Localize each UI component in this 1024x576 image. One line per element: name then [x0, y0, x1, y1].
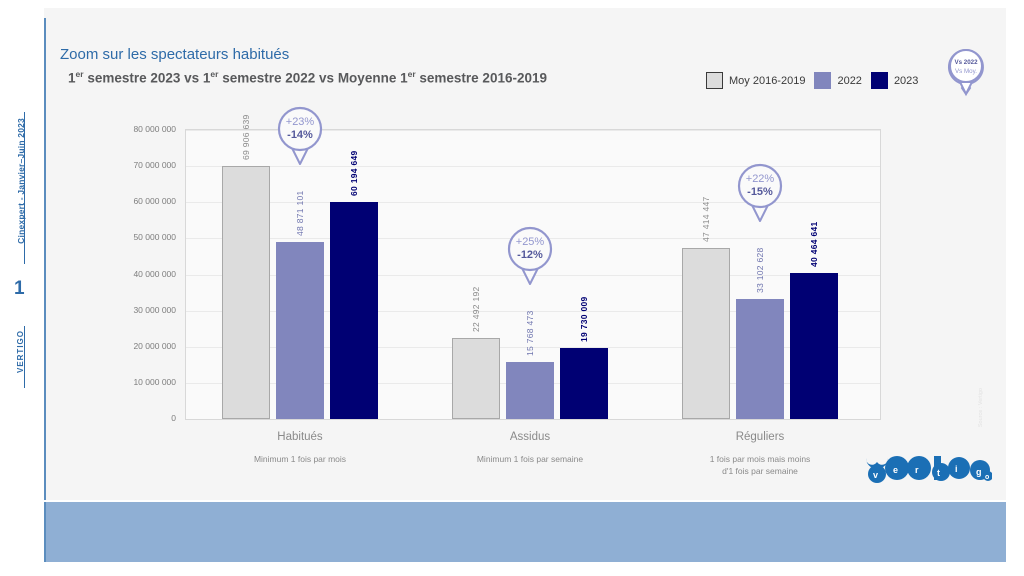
svg-text:e: e: [893, 465, 898, 475]
bar-value-label-2-0: 47 414 447: [701, 182, 711, 242]
page-title: Zoom sur les spectateurs habitués: [60, 46, 289, 63]
svg-text:Vs 2022: Vs 2022: [954, 59, 978, 66]
vs-key-pin: Vs 2022 Vs Moy.: [944, 48, 988, 98]
vertigo-logo-icon: ver tig o: [864, 452, 992, 492]
legend-swatch-0: [706, 72, 723, 89]
bar-value-label-2-1: 33 102 628: [755, 233, 765, 293]
y-axis-tick-6: 60 000 000: [84, 196, 176, 206]
band-accent-line: [44, 502, 46, 562]
bar-value-label-1-1: 15 768 473: [525, 296, 535, 356]
subtitle-b: semestre 2023 vs 1: [84, 71, 211, 86]
badge-text-1: +25%-12%: [502, 236, 558, 262]
bar-2-0[interactable]: [682, 248, 730, 419]
badge-vs2022-0: +23%: [272, 116, 328, 129]
card-accent-line: [44, 18, 46, 500]
badge-vsmoy-1: -12%: [502, 249, 558, 262]
y-axis-tick-4: 40 000 000: [84, 269, 176, 279]
y-axis: 010 000 00020 000 00030 000 00040 000 00…: [84, 129, 176, 420]
legend-label-0: Moy 2016-2019: [729, 75, 805, 87]
y-axis-tick-5: 50 000 000: [84, 232, 176, 242]
bar-value-label-1-0: 22 492 192: [471, 272, 481, 332]
category-name-0: Habitués: [190, 431, 410, 443]
badge-vsmoy-2: -15%: [732, 186, 788, 199]
category-label-1: AssidusMinimum 1 fois par semaine: [420, 431, 640, 465]
bar-value-label-0-2: 60 194 649: [349, 136, 359, 196]
category-description-1: Minimum 1 fois par semaine: [420, 453, 640, 465]
bar-0-0[interactable]: [222, 166, 270, 419]
category-name-1: Assidus: [420, 431, 640, 443]
svg-text:t: t: [937, 468, 940, 478]
y-axis-tick-7: 70 000 000: [84, 160, 176, 170]
badge-text-0: +23%-14%: [272, 116, 328, 142]
bar-1-2[interactable]: [560, 348, 608, 419]
svg-text:Vs Moy.: Vs Moy.: [955, 68, 977, 75]
key-pin-icon: Vs 2022 Vs Moy.: [944, 48, 988, 98]
bar-0-2[interactable]: [330, 202, 378, 419]
comparison-badge-2[interactable]: +22%-15%: [732, 161, 788, 225]
subtitle-c: semestre 2022 vs Moyenne 1: [218, 71, 407, 86]
subtitle-a: 1: [68, 71, 76, 86]
bottom-band: [44, 502, 1006, 562]
slide-root: Cinexpert - Janvier–Juin 2023 1 VERTIGO …: [0, 0, 1024, 576]
svg-text:g: g: [976, 467, 982, 477]
category-description-0: Minimum 1 fois par mois: [190, 453, 410, 465]
vertigo-logo: ver tig o: [864, 452, 992, 492]
legend-label-1: 2022: [837, 75, 861, 87]
legend-item-0[interactable]: Moy 2016-2019: [706, 72, 805, 89]
legend-item-1[interactable]: 2022: [814, 72, 861, 89]
sidebar-page-number: 1: [14, 278, 25, 300]
bar-2-2[interactable]: [790, 273, 838, 419]
badge-vsmoy-0: -14%: [272, 129, 328, 142]
y-axis-tick-2: 20 000 000: [84, 341, 176, 351]
badge-vs2022-2: +22%: [732, 173, 788, 186]
legend-item-2[interactable]: 2023: [871, 72, 918, 89]
svg-text:o: o: [985, 474, 989, 481]
badge-text-2: +22%-15%: [732, 173, 788, 199]
comparison-badge-0[interactable]: +23%-14%: [272, 104, 328, 168]
sidebar: Cinexpert - Janvier–Juin 2023 1 VERTIGO: [0, 0, 38, 576]
legend-swatch-1: [814, 72, 831, 89]
bar-2-1[interactable]: [736, 299, 784, 419]
sidebar-brand: VERTIGO: [16, 330, 25, 373]
subtitle-d: semestre 2016-2019: [416, 71, 547, 86]
svg-text:r: r: [915, 465, 919, 475]
bar-value-label-0-1: 48 871 101: [295, 176, 305, 236]
y-axis-tick-1: 10 000 000: [84, 377, 176, 387]
legend-label-2: 2023: [894, 75, 918, 87]
bar-1-0[interactable]: [452, 338, 500, 419]
legend-swatch-2: [871, 72, 888, 89]
bar-value-label-0-0: 69 906 639: [241, 100, 251, 160]
svg-text:i: i: [955, 464, 958, 474]
badge-vs2022-1: +25%: [502, 236, 558, 249]
category-label-2: Réguliers1 fois par mois mais moinsd'1 f…: [650, 431, 870, 477]
sidebar-study-label: Cinexpert - Janvier–Juin 2023: [16, 118, 26, 244]
y-axis-tick-8: 80 000 000: [84, 124, 176, 134]
subtitle-c-sup: er: [408, 69, 416, 79]
comparison-badge-1[interactable]: +25%-12%: [502, 224, 558, 288]
chart-legend: Moy 2016-201920222023: [706, 72, 918, 89]
source-watermark: Source : Vertigo: [978, 388, 984, 427]
bar-value-label-1-2: 19 730 009: [579, 282, 589, 342]
category-name-2: Réguliers: [650, 431, 870, 443]
page-subtitle: 1er semestre 2023 vs 1er semestre 2022 v…: [68, 69, 547, 86]
bar-0-1[interactable]: [276, 242, 324, 419]
category-description-2: 1 fois par mois mais moinsd'1 fois par s…: [650, 453, 870, 477]
category-label-0: HabituésMinimum 1 fois par mois: [190, 431, 410, 465]
y-axis-tick-0: 0: [84, 413, 176, 423]
subtitle-a-sup: er: [76, 69, 84, 79]
y-axis-tick-3: 30 000 000: [84, 305, 176, 315]
svg-text:v: v: [873, 470, 878, 480]
bar-1-1[interactable]: [506, 362, 554, 419]
bar-value-label-2-2: 40 464 641: [809, 207, 819, 267]
